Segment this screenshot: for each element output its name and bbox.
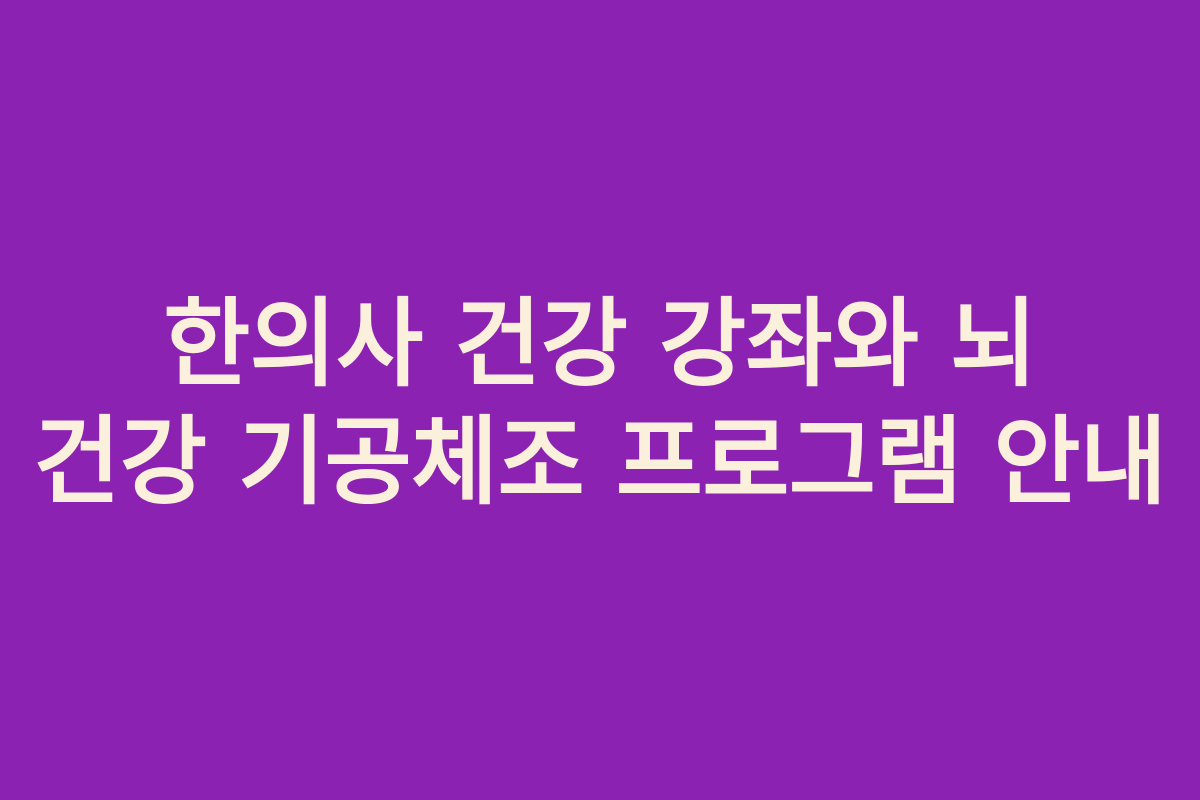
banner-canvas: 한의사 건강 강좌와 뇌 건강 기공체조 프로그램 안내 [0, 0, 1200, 800]
headline-line-2: 건강 기공체조 프로그램 안내 [19, 404, 1181, 522]
page-title: 한의사 건강 강좌와 뇌 건강 기공체조 프로그램 안내 [10, 286, 1190, 522]
headline-line-1: 한의사 건강 강좌와 뇌 [19, 286, 1181, 404]
